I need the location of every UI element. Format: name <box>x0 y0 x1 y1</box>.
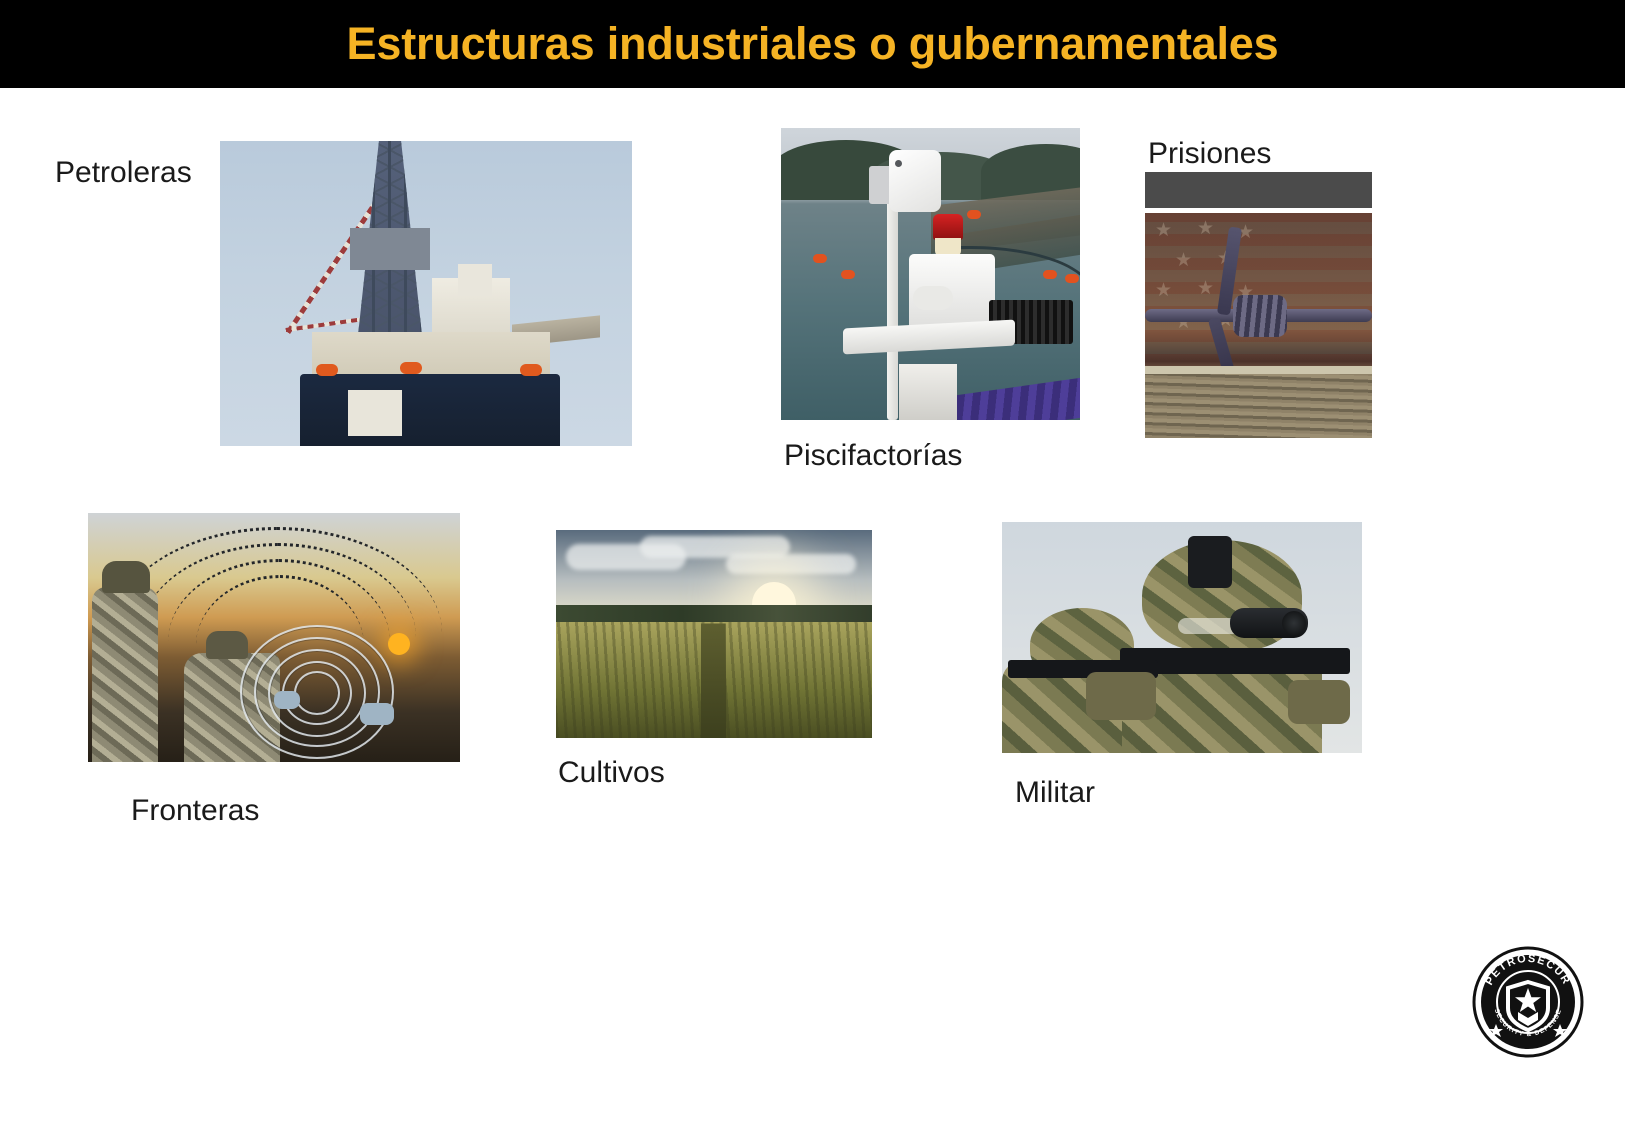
farm-buoy <box>1065 274 1079 283</box>
farm-buoy <box>967 210 981 219</box>
wooden-plank <box>1145 366 1372 438</box>
soldier-glove <box>360 703 394 725</box>
farm-buoy <box>813 254 827 263</box>
image-cultivos <box>556 530 872 738</box>
soldier-glove <box>1288 680 1350 724</box>
rig-lifeboat <box>520 364 542 376</box>
farm-lens <box>913 286 953 310</box>
farm-enclosure <box>899 364 957 420</box>
caption-prisiones: Prisiones <box>1148 139 1271 169</box>
image-prisiones: ★ ★ ★ ★ ★ ★ ★ ★ ★ ★ <box>1145 213 1372 438</box>
farm-cross-arm <box>843 319 1015 354</box>
image-fronteras <box>88 513 460 762</box>
camera-housing-icon <box>889 150 941 212</box>
rifle-scope-icon <box>1230 608 1308 638</box>
warning-beacon-icon <box>933 214 963 240</box>
rig-lifeboat <box>400 362 422 374</box>
rig-hull <box>300 374 560 446</box>
slide-canvas: Estructuras industriales o gubernamental… <box>0 0 1625 1125</box>
soldier-figure <box>92 587 158 762</box>
farm-blue-roof <box>957 377 1080 420</box>
slide-header-bar: Estructuras industriales o gubernamental… <box>0 0 1625 88</box>
slide-title: Estructuras industriales o gubernamental… <box>0 0 1625 88</box>
image-petroleras <box>220 141 632 446</box>
caption-cultivos: Cultivos <box>558 758 665 788</box>
field-track <box>701 623 727 738</box>
barbed-wire-knot <box>1233 295 1287 337</box>
caption-petroleras: Petroleras <box>55 158 192 188</box>
petrosecur-logo: PETROSECUR SECURITY & DEFENSE <box>1472 946 1584 1058</box>
image-prisiones-topband <box>1145 172 1372 208</box>
rig-mast-block <box>458 264 492 296</box>
farm-camera-mast <box>887 188 898 420</box>
caption-fronteras: Fronteras <box>131 796 259 826</box>
caption-piscifactorias: Piscifactorías <box>784 441 962 471</box>
soldier-glove <box>274 691 300 709</box>
cloud <box>726 554 856 574</box>
caption-militar: Militar <box>1015 778 1095 808</box>
night-vision-mount-icon <box>1188 536 1232 588</box>
rig-derrick-cab <box>350 228 430 270</box>
farm-buoy <box>841 270 855 279</box>
razor-wire-coil <box>294 671 340 715</box>
rig-lifeboat <box>316 364 338 376</box>
image-militar <box>1002 522 1362 753</box>
soldier-glove <box>1086 672 1156 720</box>
farm-buoy <box>1043 270 1057 279</box>
image-piscifactorias <box>781 128 1080 420</box>
